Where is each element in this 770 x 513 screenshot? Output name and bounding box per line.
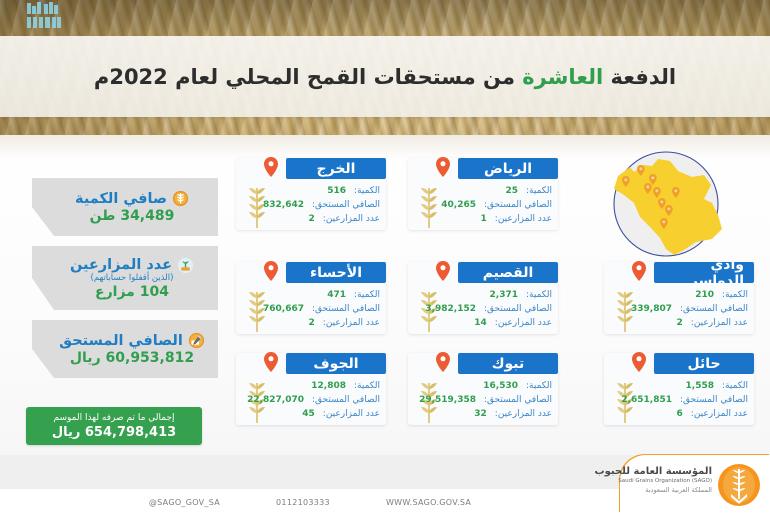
stat-value: 34,489 طن [90,208,175,224]
row-quantity: الكمية:210 [610,288,748,302]
sago-name-ar: المؤسسة العامة للحبوب [595,466,712,477]
net-due-label: الصافي المستحق: [484,304,552,314]
region-name: تبوك [482,356,535,372]
farmers-value: 45 [302,409,315,419]
farmers-label: عدد المزارعين: [495,409,552,419]
farmers-label: عدد المزارعين: [323,318,380,328]
net-due-label: الصافي المستحق: [312,200,380,210]
location-pin-icon [436,157,450,177]
farmers-value: 1 [481,214,487,224]
net-due-label: الصافي المستحق: [312,304,380,314]
row-quantity: الكمية:471 [242,288,380,302]
summary-stats-panel: صافي الكمية 34,489 طن عدد المزارعين [18,178,218,388]
region-card-rows: الكمية:1,558الصافي المستحق:2,651,851عدد … [610,379,748,421]
region-name: القصيم [473,265,544,281]
region-card: الأحساءالكمية:471الصافي المستحق:760,667ع… [236,262,386,334]
ribbon-fold [205,378,218,386]
region-card-rows: الكمية:2,371الصافي المستحق:3,982,152عدد … [414,288,552,330]
quantity-value: 2,371 [490,290,518,300]
region-card-rows: الكمية:16,530الصافي المستحق:29,519,358عد… [414,379,552,421]
page-title: الدفعة العاشرة من مستحقات القمح المحلي ل… [94,65,676,89]
row-quantity: الكمية:516 [242,184,380,198]
farmers-label: عدد المزارعين: [691,318,748,328]
net-due-value: 29,519,358 [419,395,476,405]
sago-name-en: Saudi Grains Organization (SAGO) [595,478,712,484]
net-due-label: الصافي المستحق: [680,395,748,405]
footer-links: @SAGO_GOV_SA 0112103333 WWW.SAGO.GOV.SA [0,491,620,513]
quantity-label: الكمية: [526,381,552,391]
row-net-due: الصافي المستحق:2,651,851 [610,393,748,407]
quantity-value: 12,808 [311,381,346,391]
saudi-arabia-map [600,143,732,261]
region-card-rows: الكمية:12,808الصافي المستحق:22,827,070عد… [242,379,380,421]
season-total-label: إجمالي ما تم صرفه لهذا الموسم [53,413,174,423]
row-farmers: عدد المزارعين:1 [414,212,552,226]
region-name: حائل [677,356,730,372]
row-quantity: الكمية:16,530 [414,379,552,393]
farmers-label: عدد المزارعين: [495,318,552,328]
farmers-label: عدد المزارعين: [323,409,380,419]
row-farmers: عدد المزارعين:14 [414,316,552,330]
season-total-box: إجمالي ما تم صرفه لهذا الموسم 654,798,41… [26,407,202,445]
row-quantity: الكمية:12,808 [242,379,380,393]
farmers-value: 2 [309,318,315,328]
hero-top-shade [0,0,770,36]
location-pin-icon [436,261,450,281]
net-due-value: 40,265 [441,200,476,210]
footer-phone[interactable]: 0112103333 [276,498,330,507]
region-name: الخرج [307,161,366,177]
row-farmers: عدد المزارعين:32 [414,407,552,421]
region-card-rows: الكمية:516الصافي المستحق:832,642عدد المز… [242,184,380,226]
region-name: الأحساء [300,265,372,281]
row-quantity: الكمية:2,371 [414,288,552,302]
stat-value: 104 مزارع [95,284,169,300]
ribbon-fold [205,236,218,244]
region-card-header: حائل [654,353,754,374]
farmer-plant-icon [177,257,194,274]
quantity-value: 471 [327,290,346,300]
farmers-value: 2 [677,318,683,328]
location-pin-icon [632,352,646,372]
row-quantity: الكمية:25 [414,184,552,198]
stat-value: 60,953,812 ريال [70,350,194,366]
quantity-value: 210 [695,290,714,300]
row-net-due: الصافي المستحق:832,642 [242,198,380,212]
row-net-due: الصافي المستحق:40,265 [414,198,552,212]
row-farmers: عدد المزارعين:6 [610,407,748,421]
row-net-due: الصافي المستحق:22,827,070 [242,393,380,407]
stat-ribbon-net-quantity: صافي الكمية 34,489 طن [32,178,218,236]
row-farmers: عدد المزارعين:2 [242,316,380,330]
region-card: حائلالكمية:1,558الصافي المستحق:2,651,851… [604,353,754,425]
region-card: الرياضالكمية:25الصافي المستحق:40,265عدد … [408,158,558,230]
row-net-due: الصافي المستحق:29,519,358 [414,393,552,407]
location-pin-icon [264,157,278,177]
location-pin-icon [436,352,450,372]
sago-logo-icon [716,463,762,507]
season-total-value: 654,798,413 ريال [52,425,176,440]
region-card-header: الأحساء [286,262,386,283]
row-farmers: عدد المزارعين:2 [242,212,380,226]
location-pin-icon [264,261,278,281]
quantity-value: 16,530 [483,381,518,391]
region-card: الجوفالكمية:12,808الصافي المستحق:22,827,… [236,353,386,425]
location-pin-icon [632,261,646,281]
farmers-value: 6 [677,409,683,419]
quantity-label: الكمية: [722,381,748,391]
region-card-header: القصيم [458,262,558,283]
farmers-value: 2 [309,214,315,224]
quantity-label: الكمية: [722,290,748,300]
net-due-label: الصافي المستحق: [484,395,552,405]
farmers-value: 32 [474,409,487,419]
stat-title: الصافي المستحق [59,333,183,349]
region-card: وادي الدواسرالكمية:210الصافي المستحق:339… [604,262,754,334]
quantity-label: الكمية: [526,186,552,196]
region-card-rows: الكمية:210الصافي المستحق:339,807عدد المز… [610,288,748,330]
farmers-label: عدد المزارعين: [495,214,552,224]
farmers-label: عدد المزارعين: [323,214,380,224]
quantity-label: الكمية: [526,290,552,300]
row-farmers: عدد المزارعين:45 [242,407,380,421]
stat-ribbon-net-due: الصافي المستحق 60,953,812 ريال [32,320,218,378]
quantity-label: الكمية: [354,186,380,196]
farmers-label: عدد المزارعين: [691,409,748,419]
quantity-value: 516 [327,186,346,196]
page-footer: المؤسسة العامة للحبوب Saudi Grains Organ… [0,455,770,513]
region-card-rows: الكمية:25الصافي المستحق:40,265عدد المزار… [414,184,552,226]
net-due-value: 832,642 [263,200,304,210]
net-due-label: الصافي المستحق: [680,304,748,314]
stat-title: صافي الكمية [75,191,167,207]
net-due-label: الصافي المستحق: [312,395,380,405]
region-name: وادي الدواسر [654,257,754,289]
spa-logo [27,2,65,29]
footer-website[interactable]: WWW.SAGO.GOV.SA [386,498,471,507]
title-suffix: من مستحقات القمح المحلي لعام 2022م [94,65,522,89]
net-due-value: 3,982,152 [425,304,476,314]
region-card: القصيمالكمية:2,371الصافي المستحق:3,982,1… [408,262,558,334]
farmers-value: 14 [474,318,487,328]
region-card-header: وادي الدواسر [654,262,754,283]
infographic-page: الدفعة العاشرة من مستحقات القمح المحلي ل… [0,0,770,513]
quantity-label: الكمية: [354,381,380,391]
title-prefix: الدفعة [603,65,676,89]
quantity-label: الكمية: [354,290,380,300]
region-card-header: الرياض [458,158,558,179]
net-due-value: 339,807 [631,304,672,314]
stat-subtitle: (الذين أقفلوا حساباتهم) [91,273,174,283]
location-pin-icon [264,352,278,372]
region-card: الخرجالكمية:516الصافي المستحق:832,642عدد… [236,158,386,230]
title-band: الدفعة العاشرة من مستحقات القمح المحلي ل… [0,36,770,117]
footer-twitter-handle[interactable]: @SAGO_GOV_SA [149,498,220,507]
row-net-due: الصافي المستحق:760,667 [242,302,380,316]
quantity-value: 1,558 [686,381,714,391]
row-quantity: الكمية:1,558 [610,379,748,393]
region-name: الجوف [303,356,368,372]
region-card-rows: الكمية:471الصافي المستحق:760,667عدد المز… [242,288,380,330]
region-card-header: تبوك [458,353,558,374]
net-due-value: 22,827,070 [247,395,304,405]
money-pen-icon [188,332,205,349]
net-due-value: 760,667 [263,304,304,314]
ribbon-fold [205,310,218,318]
title-accent: العاشرة [522,65,603,89]
region-card-header: الخرج [286,158,386,179]
sago-wordmark: المؤسسة العامة للحبوب Saudi Grains Organ… [595,466,712,494]
net-due-label: الصافي المستحق: [484,200,552,210]
region-card: تبوكالكمية:16,530الصافي المستحق:29,519,3… [408,353,558,425]
stat-ribbon-farmers-count: عدد المزارعين (الذين أقفلوا حساباتهم) 10… [32,246,218,310]
row-net-due: الصافي المستحق:339,807 [610,302,748,316]
region-name: الرياض [474,161,542,177]
quantity-value: 25 [505,186,518,196]
stat-title: عدد المزارعين [70,257,172,273]
wheat-coin-icon [172,190,189,207]
region-card-header: الجوف [286,353,386,374]
row-farmers: عدد المزارعين:2 [610,316,748,330]
net-due-value: 2,651,851 [621,395,672,405]
row-net-due: الصافي المستحق:3,982,152 [414,302,552,316]
